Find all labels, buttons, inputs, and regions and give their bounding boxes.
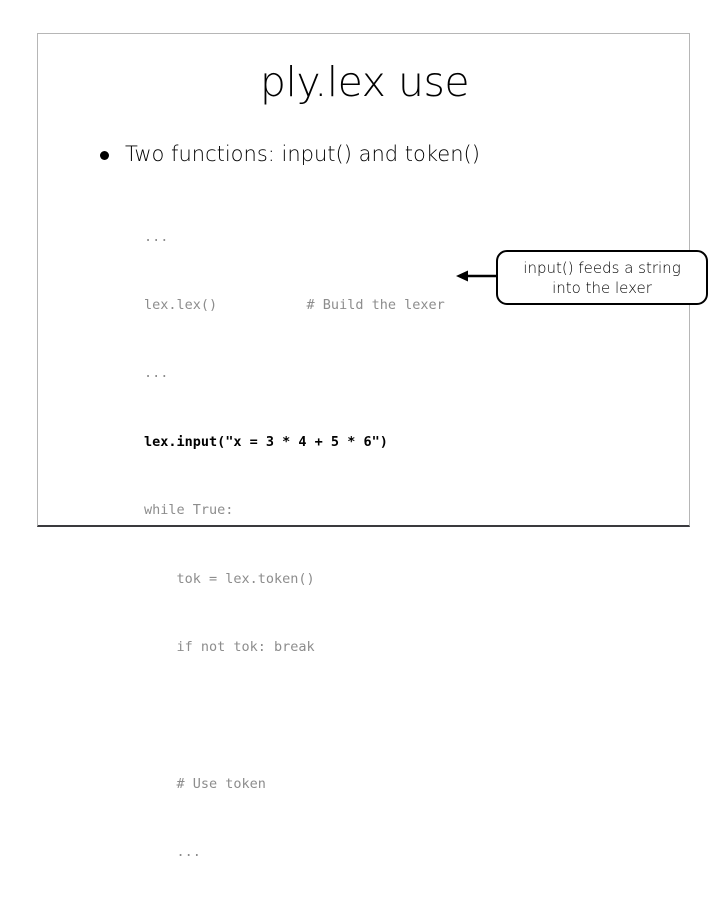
code-line-highlighted: lex.input("x = 3 * 4 + 5 * 6") — [144, 431, 445, 454]
page-title: ply.lex use — [38, 62, 691, 103]
callout-box: input() feeds a string into the lexer — [496, 250, 708, 305]
code-line: if not tok: break — [144, 636, 445, 659]
code-line: lex.lex() # Build the lexer — [144, 294, 445, 317]
code-block: ... lex.lex() # Build the lexer ... lex.… — [144, 180, 445, 910]
bullet-item: Two functions: input() and token() — [100, 142, 480, 166]
code-line: # Use token — [144, 773, 445, 796]
code-line: ... — [144, 841, 445, 864]
slide-canvas: ply.lex use Two functions: input() and t… — [37, 33, 690, 527]
code-line — [144, 704, 445, 727]
code-line: while True: — [144, 499, 445, 522]
code-line: tok = lex.token() — [144, 568, 445, 591]
bullet-item-label: Two functions: input() and token() — [125, 142, 480, 166]
callout-line-1: input() feeds a string — [523, 258, 680, 278]
callout-line-2: into the lexer — [552, 278, 652, 298]
bullet-point-icon — [100, 151, 109, 160]
arrow-left-icon — [456, 269, 498, 283]
code-line: ... — [144, 226, 445, 249]
code-line: ... — [144, 362, 445, 385]
